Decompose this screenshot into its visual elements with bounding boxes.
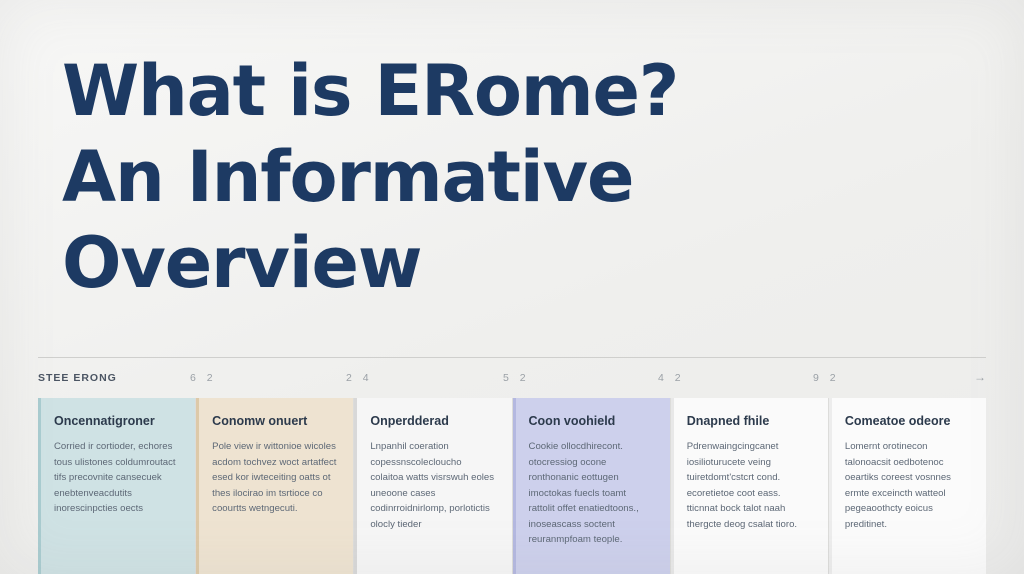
card-1[interactable]: Oncennatigroner Corried ir cortioder, ec… [38,398,196,574]
card-2-title: Conomw onuert [212,414,337,428]
card-2[interactable]: Conomw onuert Pole view ir wittonioe wic… [196,398,354,574]
card-2-accent-bar [196,398,199,574]
timeline-tick-1: 6 2 [190,372,217,384]
timeline-axis: STEE ERONG 6 2 2 4 5 2 4 2 9 2 → [38,368,986,394]
card-6-accent-bar [829,398,832,574]
timeline-axis-label: STEE ERONG [38,372,117,384]
arrow-right-icon: → [974,370,986,384]
card-1-body: Corried ir cortioder, echores tous ulist… [54,439,179,517]
card-1-accent-bar [38,398,41,574]
card-3-title: Onperdderad [370,414,495,428]
card-5-accent-bar [671,398,674,574]
card-5-body: Pdrenwaingcingcanet iosilioturucete vein… [687,439,812,532]
card-3-accent-bar [354,398,357,574]
timeline-tick-5: 9 2 [813,372,840,384]
card-3-body: Lnpanhil coeration copessnscolecloucho c… [370,439,495,532]
page-title: What is ERome? An Informative Overview [62,48,882,306]
title-line-2: An Informative [62,134,882,220]
card-6-title: Comeatoe odeore [845,414,970,428]
slide-canvas: What is ERome? An Informative Overview S… [0,0,1024,574]
card-5[interactable]: Dnapned fhile Pdrenwaingcingcanet iosili… [671,398,829,574]
card-4-title: Coon voohield [529,414,654,428]
card-6[interactable]: Comeatoe odeore Lomernt orotinecon talon… [829,398,986,574]
card-6-body: Lomernt orotinecon talonoacsit oedboteno… [845,439,970,532]
card-4-accent-bar [513,398,516,574]
card-1-title: Oncennatigroner [54,414,179,428]
card-5-title: Dnapned fhile [687,414,812,428]
card-row: Oncennatigroner Corried ir cortioder, ec… [38,398,986,574]
card-4[interactable]: Coon voohield Cookie ollocdhirecont. oto… [513,398,671,574]
title-line-3: Overview [62,220,882,306]
card-2-body: Pole view ir wittonioe wicoles acdom toc… [212,439,337,517]
timeline-tick-4: 4 2 [658,372,685,384]
horizontal-divider [38,357,986,358]
title-line-1: What is ERome? [62,48,882,134]
card-4-body: Cookie ollocdhirecont. otocressiog ocone… [529,439,654,548]
timeline-tick-2: 2 4 [346,372,373,384]
timeline-tick-3: 5 2 [503,372,530,384]
card-3[interactable]: Onperdderad Lnpanhil coeration copessnsc… [354,398,512,574]
